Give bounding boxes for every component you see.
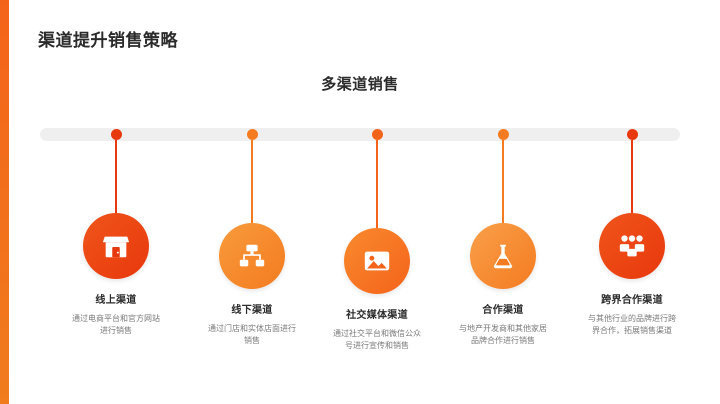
channel-description: 与其他行业的品牌进行跨界合作，拓展销售渠道 (588, 313, 676, 338)
connector-line (631, 140, 633, 213)
channel-title: 社交媒体渠道 (322, 306, 432, 321)
channel-node[interactable]: 社交媒体渠道通过社交平台和微信公众号进行宣传和销售 (322, 228, 432, 353)
timeline-dot (627, 129, 638, 140)
timeline-bar (40, 128, 680, 141)
page-title: 渠道提升销售策略 (38, 26, 178, 51)
slide-canvas: 渠道提升销售策略 多渠道销售 线上渠道通过电商平台和官方网站进行销售线下渠道通过… (0, 0, 720, 404)
channel-title: 线下渠道 (197, 301, 307, 316)
connector-line (251, 140, 253, 223)
channel-node[interactable]: 线下渠道通过门店和实体店面进行销售 (197, 223, 307, 348)
channel-description: 通过门店和实体店面进行销售 (208, 323, 296, 348)
flask-icon (488, 241, 518, 271)
channel-icon-circle[interactable] (599, 213, 665, 279)
connector-line (115, 140, 117, 213)
connector-line (376, 140, 378, 228)
store-front-icon (101, 231, 131, 261)
channel-icon-circle[interactable] (83, 213, 149, 279)
channel-description: 通过电商平台和官方网站进行销售 (72, 313, 160, 338)
left-accent-bar (0, 0, 9, 404)
channel-icon-circle[interactable] (470, 223, 536, 289)
channel-icon-circle[interactable] (344, 228, 410, 294)
people-group-icon (617, 231, 647, 261)
page-subtitle: 多渠道销售 (0, 73, 720, 94)
image-photo-icon (362, 246, 392, 276)
sitemap-icon (237, 241, 267, 271)
channel-node[interactable]: 线上渠道通过电商平台和官方网站进行销售 (61, 213, 171, 338)
channel-icon-circle[interactable] (219, 223, 285, 289)
connector-line (502, 140, 504, 223)
timeline-dot (372, 129, 383, 140)
channel-node[interactable]: 跨界合作渠道与其他行业的品牌进行跨界合作，拓展销售渠道 (577, 213, 687, 338)
timeline-dot (247, 129, 258, 140)
timeline-dot (111, 129, 122, 140)
channel-node[interactable]: 合作渠道与地产开发商和其他家居品牌合作进行销售 (448, 223, 558, 348)
channel-title: 线上渠道 (61, 291, 171, 306)
channel-title: 合作渠道 (448, 301, 558, 316)
timeline-dot (498, 129, 509, 140)
channel-description: 通过社交平台和微信公众号进行宣传和销售 (333, 328, 421, 353)
channel-description: 与地产开发商和其他家居品牌合作进行销售 (459, 323, 547, 348)
channel-title: 跨界合作渠道 (577, 291, 687, 306)
